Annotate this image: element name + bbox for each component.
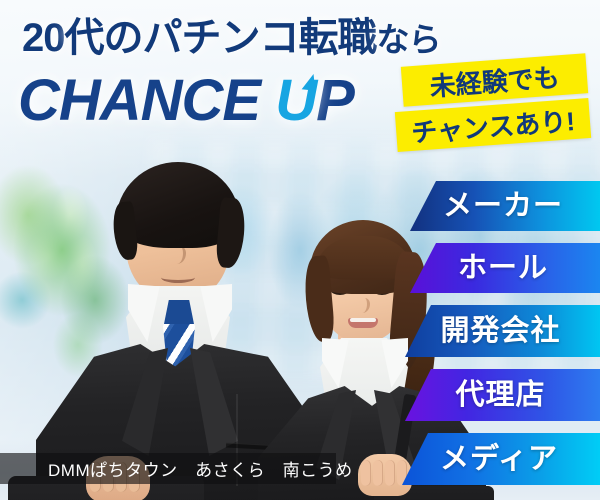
category-label: ホール [410, 254, 600, 283]
category-button-media[interactable]: メディア [402, 433, 600, 485]
female-finger [385, 460, 395, 486]
logo-letter-p: P [316, 68, 354, 133]
female-teeth [350, 318, 376, 322]
headline-number: 20 [22, 16, 65, 60]
headline-text: 20代のパチンコ転職なら [22, 18, 441, 58]
logo-word-chance: CHANCE [18, 68, 275, 133]
category-button-agency[interactable]: 代理店 [405, 369, 600, 421]
male-mouth [161, 272, 195, 283]
badge-label: 未経験でも [428, 57, 560, 103]
category-button-hall[interactable]: ホール [410, 243, 600, 293]
category-label: メディア [402, 445, 600, 474]
male-necktie-knot [164, 300, 194, 324]
headline-main: 代のパチンコ転職 [65, 16, 377, 60]
recruitment-banner: 20代のパチンコ転職なら CHANCE UP 未経験でも チャンスあり! メーカ… [0, 0, 600, 500]
female-finger [361, 460, 371, 486]
chance-up-logo: CHANCE UP [18, 72, 354, 130]
category-button-development-company[interactable]: 開発会社 [405, 305, 600, 357]
female-hand [358, 454, 412, 496]
category-label: メーカー [410, 192, 600, 221]
female-finger [373, 460, 383, 486]
category-button-maker[interactable]: メーカー [410, 181, 600, 231]
category-label: 開発会社 [405, 317, 600, 346]
credit-bar: DMMぱちタウン あさくら 南こうめ [0, 453, 336, 484]
male-hair-side-right [215, 197, 247, 269]
logo-letter-u-accent: U [275, 72, 316, 130]
credit-text: DMMぱちタウン あさくら 南こうめ [0, 456, 353, 481]
category-label: 代理店 [405, 381, 600, 410]
headline-suffix: なら [377, 21, 441, 58]
